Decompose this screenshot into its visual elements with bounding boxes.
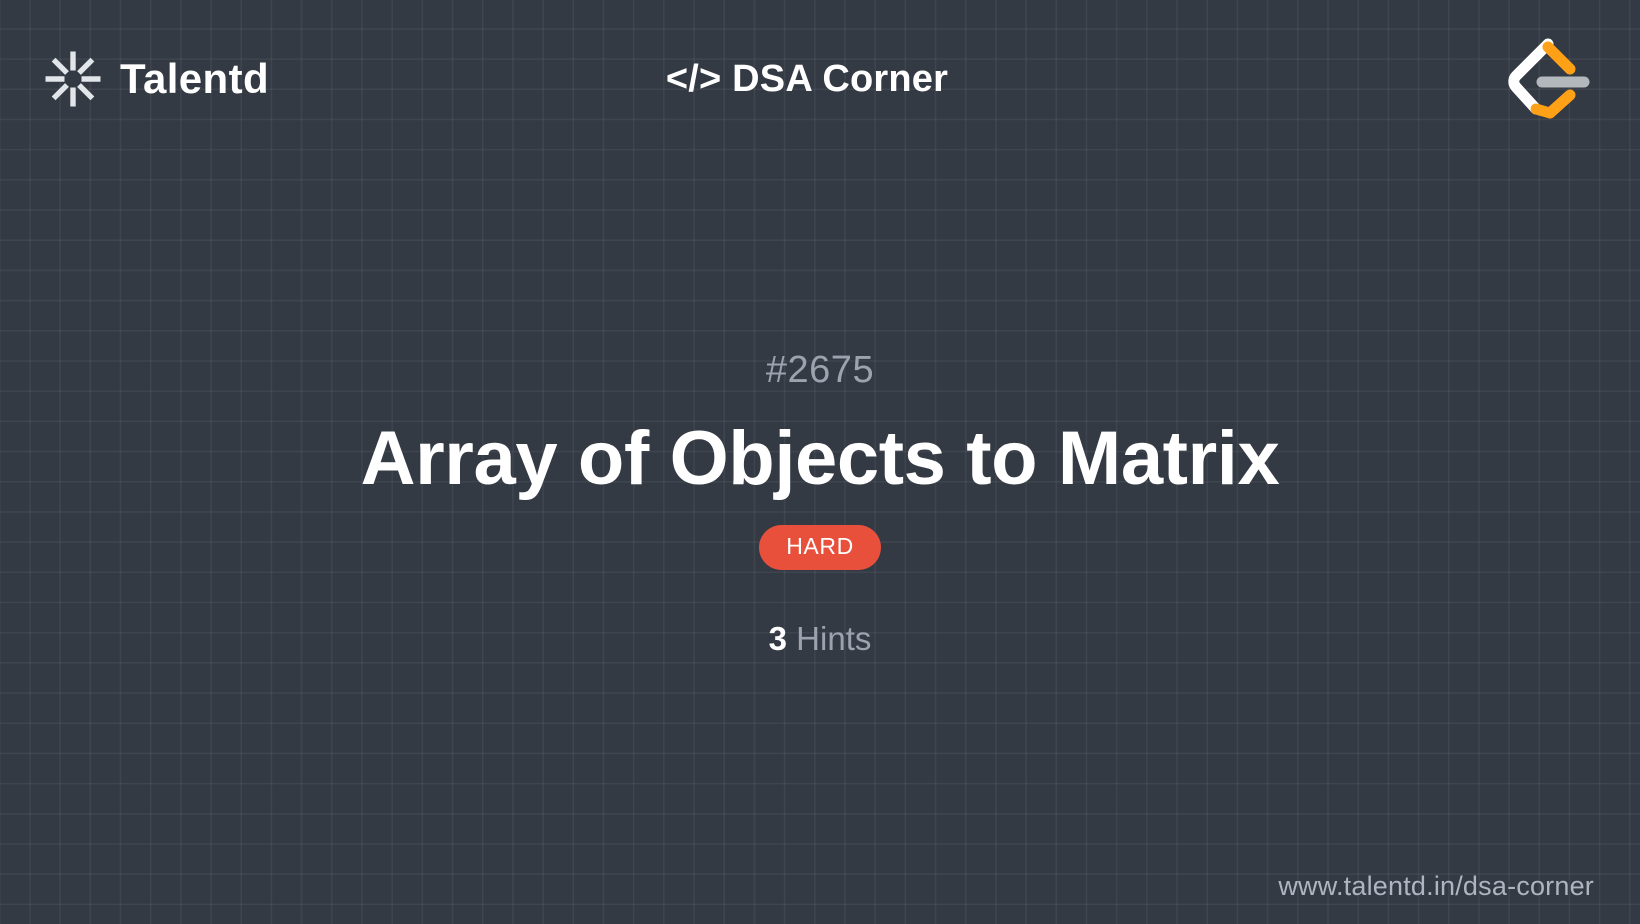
- app-header: Talentd </> DSA Corner: [0, 0, 1640, 158]
- problem-number: #2675: [766, 351, 874, 389]
- section-title-block: </> DSA Corner: [448, 58, 1166, 101]
- footer-url: www.talentd.in/dsa-corner: [1278, 871, 1594, 902]
- hints-row: 3 Hints: [769, 622, 872, 655]
- hints-label: Hints: [796, 620, 871, 657]
- leetcode-icon: [1506, 33, 1592, 125]
- problem-hero: #2675 Array of Objects to Matrix HARD 3 …: [0, 158, 1640, 848]
- difficulty-badge: HARD: [759, 525, 881, 570]
- site-footer: www.talentd.in/dsa-corner: [0, 848, 1640, 924]
- page-title: </> DSA Corner: [666, 58, 948, 101]
- platform-logo-block: [1166, 33, 1596, 125]
- brand-logo[interactable]: Talentd: [44, 50, 474, 108]
- brand-name: Talentd: [120, 58, 269, 100]
- hints-count: 3: [769, 620, 787, 657]
- talentd-asterisk-icon: [44, 50, 102, 108]
- problem-title: Array of Objects to Matrix: [361, 419, 1280, 500]
